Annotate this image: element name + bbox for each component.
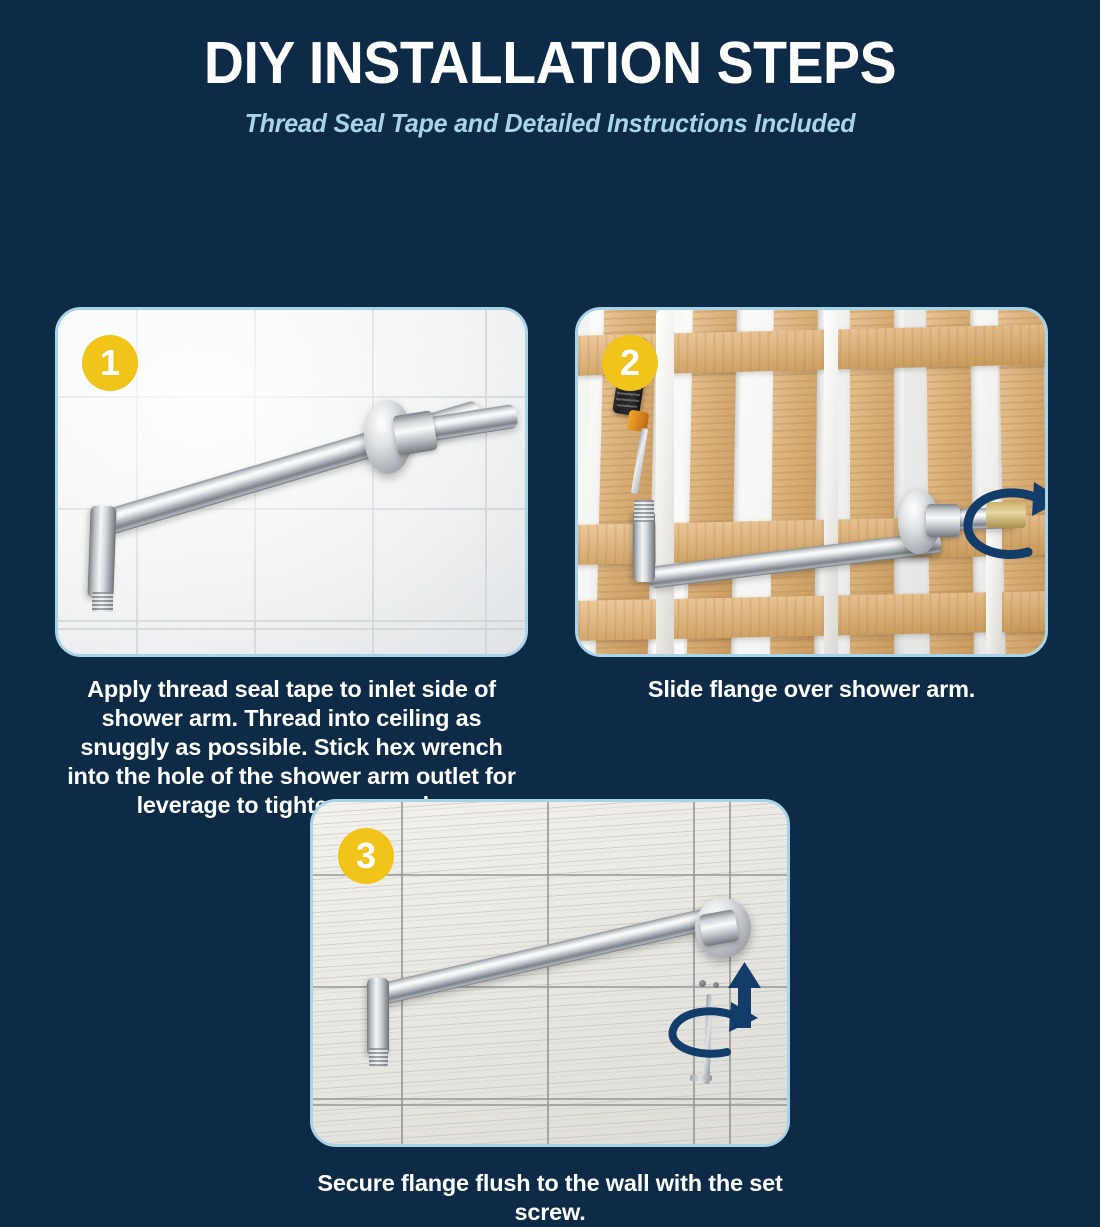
step-badge-1: 1 (82, 335, 138, 391)
page-header: DIY INSTALLATION STEPS Thread Seal Tape … (0, 0, 1100, 139)
page-subtitle: Thread Seal Tape and Detailed Instructio… (22, 108, 1078, 139)
shower-arm-outlet-threads (369, 1048, 388, 1066)
hex-key-short-arm (690, 1075, 712, 1081)
page-title: DIY INSTALLATION STEPS (33, 34, 1067, 93)
step-number-3: 3 (356, 838, 376, 874)
step-card-3: 3 Secure flange flush to the wall with t… (310, 799, 790, 1227)
step-number-2: 2 (620, 345, 640, 381)
step-caption-2: Slide flange over shower arm. (575, 675, 1048, 704)
flange-collar (698, 909, 739, 947)
shower-arm-elbow (367, 978, 389, 1056)
shower-arm-tube (376, 908, 712, 1006)
step-badge-2: 2 (602, 335, 658, 391)
rotation-arrow-icon (950, 478, 1048, 568)
step-2-image: 2 (575, 307, 1048, 657)
shower-arm-outlet-threads (92, 592, 113, 612)
step-caption-3: Secure flange flush to the wall with the… (310, 1169, 790, 1227)
shower-arm-tube (647, 531, 942, 589)
step-1-image: 1 (55, 307, 528, 657)
step-card-1: 1 Apply thread seal tape to inlet side o… (55, 307, 528, 820)
shower-arm-inlet-threads (634, 500, 654, 522)
flange-collar (392, 410, 438, 456)
step-number-1: 1 (100, 345, 120, 381)
step-badge-3: 3 (338, 828, 394, 884)
step-3-image: 3 (310, 799, 790, 1147)
rotation-arrow-icon (661, 998, 771, 1068)
set-screw-hole (699, 980, 706, 987)
step-card-2: 2 Slide flange over shower arm. (575, 307, 1048, 704)
set-screw-hole (713, 982, 719, 988)
shower-arm-elbow (87, 506, 116, 599)
